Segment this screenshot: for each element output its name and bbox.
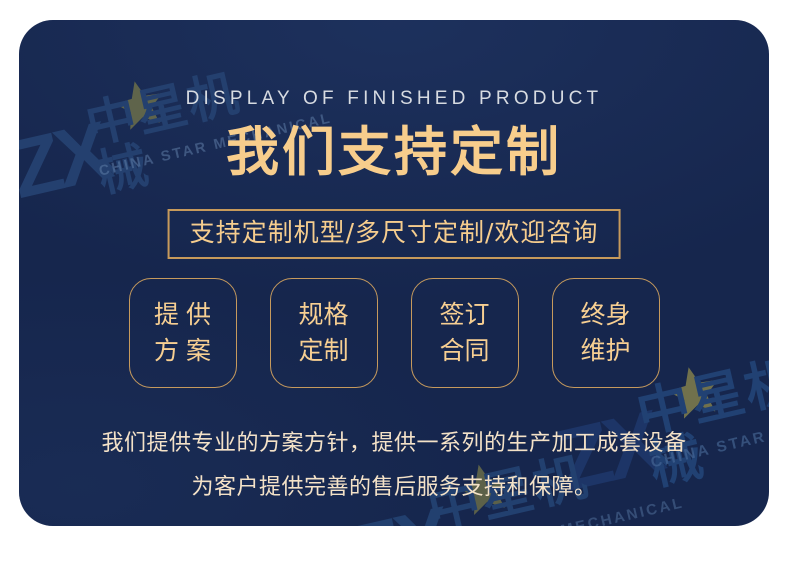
feature-box-2: 规格 定制 xyxy=(270,278,378,388)
description-line-1: 我们提供专业的方案方针，提供一系列的生产加工成套设备 xyxy=(19,422,769,466)
feature-box-line2: 维护 xyxy=(580,333,630,369)
eyebrow-text: DISPLAY OF FINISHED PRODUCT xyxy=(19,88,769,110)
description-paragraph: 我们提供专业的方案方针，提供一系列的生产加工成套设备 为客户提供完善的售后服务支… xyxy=(19,422,769,510)
card-content: DISPLAY OF FINISHED PRODUCT 我们支持定制 支持定制机… xyxy=(19,20,769,526)
feature-box-line1: 规格 xyxy=(298,297,348,333)
feature-box-line1: 终身 xyxy=(580,297,630,333)
description-line-2: 为客户提供完善的售后服务支持和保障。 xyxy=(19,466,769,510)
feature-box-line1: 提供 xyxy=(147,297,218,333)
feature-box-line2: 定制 xyxy=(298,333,348,369)
feature-box-list: 提供 方案 规格 定制 签订 合同 终身 维护 xyxy=(19,278,769,388)
feature-box-3: 签订 合同 xyxy=(411,278,519,388)
feature-box-line1: 签订 xyxy=(439,297,489,333)
feature-box-line2: 合同 xyxy=(439,333,489,369)
screenshot-root: ZX 中星机械 CHINA STAR MECHANICAL ZX 中星机械 CH… xyxy=(0,0,790,564)
promo-card: ZX 中星机械 CHINA STAR MECHANICAL ZX 中星机械 CH… xyxy=(19,20,769,526)
feature-box-4: 终身 维护 xyxy=(552,278,660,388)
page-title: 我们支持定制 xyxy=(19,122,769,184)
feature-box-line2: 方案 xyxy=(147,333,218,369)
feature-box-1: 提供 方案 xyxy=(129,278,237,388)
subtitle-bar: 支持定制机型/多尺寸定制/欢迎咨询 xyxy=(168,209,621,259)
